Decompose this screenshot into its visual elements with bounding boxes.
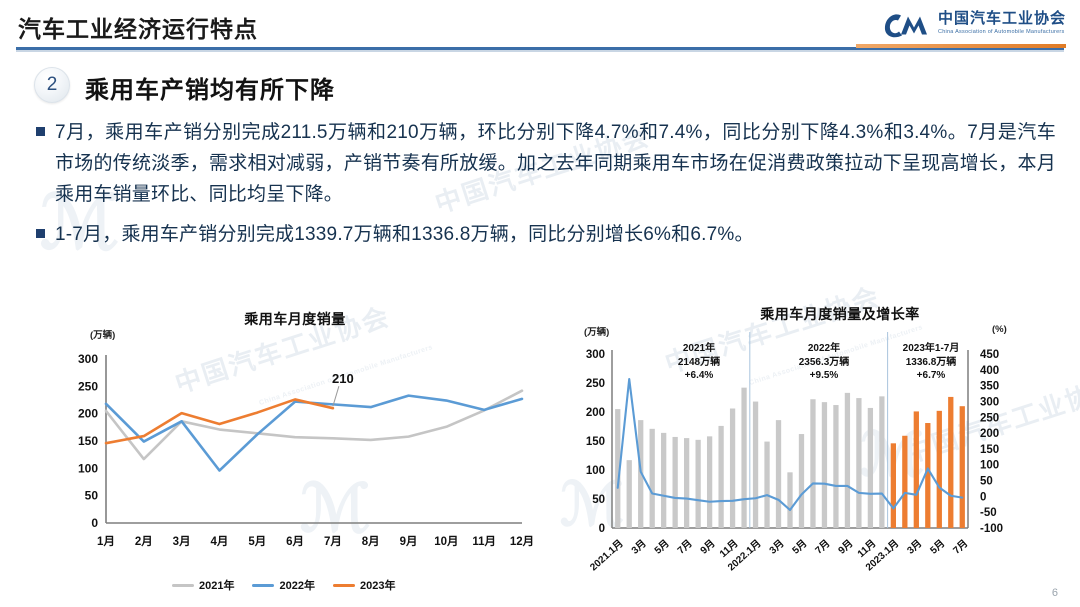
left-y-tick-label: 100 [586, 465, 605, 477]
x-tick-label: 6月 [286, 535, 304, 548]
x-tick-label: 3月 [173, 535, 191, 548]
section-title: 乘用车产销均有所下降 [85, 70, 335, 105]
left-y-tick-label: 50 [592, 494, 605, 506]
annotation-2022-growth: +9.5% [760, 369, 888, 383]
x-tick-label: 5月 [248, 535, 266, 548]
annotation-2023-growth: +6.7% [870, 369, 992, 383]
right-y-tick-label: 0 [980, 491, 986, 503]
bar [925, 423, 930, 528]
slide: 中国汽车工业协会 China Association of Automobile… [0, 0, 1080, 607]
annotation-2021-total: 2148万辆 [640, 356, 758, 370]
x-tick-label: 11月 [472, 535, 496, 548]
legend-item-2021: 2021年 [172, 577, 234, 593]
x-tick-label: 5月 [790, 537, 810, 556]
bullet-square-icon [36, 229, 45, 238]
x-tick-label: 4月 [211, 535, 229, 548]
x-tick-label: 3月 [767, 537, 787, 556]
bar [673, 437, 678, 528]
header-divider-secondary [16, 50, 1064, 52]
right-y-tick-label: 150 [980, 444, 999, 456]
bar [707, 436, 712, 528]
right-y-tick-label: 300 [980, 396, 999, 408]
left-y-tick-label: 200 [586, 407, 605, 419]
bullet-square-icon [36, 127, 45, 136]
annotation-2022: 2022年 2356.3万辆 +9.5% [760, 342, 888, 383]
x-tick-label: 10月 [434, 535, 458, 548]
y-tick-label: 50 [85, 489, 99, 503]
logo-name-cn: 中国汽车工业协会 [938, 11, 1066, 28]
x-tick-label: 8月 [362, 535, 380, 548]
list-item: 7月，乘用车产销分别完成211.5万辆和210万辆，环比分别下降4.7%和7.4… [36, 118, 1056, 210]
y-tick-label: 300 [78, 352, 98, 366]
left-y-tick-label: 0 [599, 523, 605, 535]
annotation-2023: 2023年1-7月 1336.8万辆 +6.7% [870, 342, 992, 383]
x-tick-label: 7月 [324, 535, 342, 548]
bar [845, 393, 850, 528]
logo-name-en: China Association of Automobile Manufact… [938, 29, 1066, 35]
bar [764, 442, 769, 528]
annotation-2022-total: 2356.3万辆 [760, 356, 888, 370]
bullet-text: 7月，乘用车产销分别完成211.5万辆和210万辆，环比分别下降4.7%和7.4… [55, 118, 1056, 210]
right-y-tick-label: 50 [980, 476, 993, 488]
right-y-tick-label: -50 [980, 507, 997, 519]
annotation-2023-year: 2023年1-7月 [870, 342, 992, 356]
x-tick-label: 9月 [836, 537, 856, 556]
y-tick-label: 200 [78, 407, 98, 421]
legend-label-2022: 2022年 [279, 577, 314, 593]
bar [787, 472, 792, 528]
chart1-canvas: 0501001502002503001月2月3月4月5月6月7月8月9月10月1… [60, 345, 530, 595]
x-tick-label: 7月 [951, 537, 971, 556]
x-tick-label: 3月 [629, 537, 649, 556]
bar [856, 398, 861, 528]
left-y-tick-label: 250 [586, 378, 605, 390]
x-tick-label: 5月 [652, 537, 672, 556]
bar [914, 411, 919, 528]
y-tick-label: 150 [78, 434, 98, 448]
y-tick-label: 250 [78, 379, 98, 393]
x-tick-label: 3月 [905, 537, 925, 556]
logo-accent-bar [856, 44, 1066, 48]
page-number: 6 [1052, 587, 1058, 599]
right-y-tick-label: -100 [980, 523, 1003, 535]
y-tick-label: 0 [91, 516, 98, 530]
annotation-2021: 2021年 2148万辆 +6.4% [640, 342, 758, 383]
bar [833, 405, 838, 528]
bar [730, 409, 735, 528]
bar [822, 402, 827, 528]
bar [879, 396, 884, 528]
legend-label-2023: 2023年 [360, 577, 395, 593]
legend-swatch-2022 [252, 584, 274, 587]
bullet-list: 7月，乘用车产销分别完成211.5万辆和210万辆，环比分别下降4.7%和7.4… [36, 118, 1056, 261]
y-axis-unit-label: (万辆) [90, 327, 115, 341]
section-number-badge: 2 [34, 67, 70, 103]
x-tick-label: 12月 [510, 535, 534, 548]
page-title: 汽车工业经济运行特点 [18, 10, 258, 44]
x-tick-label: 7月 [675, 537, 695, 556]
x-tick-label: 2月 [135, 535, 153, 548]
x-tick-label: 9月 [400, 535, 418, 548]
bar [810, 399, 815, 528]
chart-title: 乘用车月度销量 [60, 309, 530, 329]
right-y-tick-label: 200 [980, 428, 999, 440]
bar [799, 434, 804, 528]
bullet-text: 1-7月，乘用车产销分别完成1339.7万辆和1336.8万辆，同比分别增长6%… [55, 220, 754, 251]
x-tick-label: 1月 [97, 535, 115, 548]
right-y-tick-label: 100 [980, 460, 999, 472]
bar [718, 426, 723, 528]
right-y-tick-label: 250 [980, 412, 999, 424]
list-item: 1-7月，乘用车产销分别完成1339.7万辆和1336.8万辆，同比分别增长6%… [36, 220, 1056, 251]
annotation-2021-growth: +6.4% [640, 369, 758, 383]
chart1-legend: 2021年 2022年 2023年 [172, 577, 395, 593]
chart-title: 乘用车月度销量及增长率 [610, 304, 1070, 324]
x-tick-label: 7月 [813, 537, 833, 556]
right-axis-unit-label: (%) [992, 324, 1007, 335]
bar [960, 406, 965, 528]
left-y-tick-label: 300 [586, 349, 605, 361]
bar [741, 388, 746, 528]
bar [868, 408, 873, 528]
legend-swatch-2023 [333, 584, 355, 587]
left-y-tick-label: 150 [586, 436, 605, 448]
annotation-leader-line [333, 386, 339, 406]
x-tick-label: 2021.1月 [588, 537, 626, 573]
annotation-2022-year: 2022年 [760, 342, 888, 356]
chart-monthly-sales-and-growth: 乘用车月度销量及增长率 (万辆) (%) 2021年 2148万辆 +6.4% … [570, 300, 1070, 600]
legend-item-2023: 2023年 [333, 577, 395, 593]
bar [627, 460, 632, 528]
bar [684, 438, 689, 528]
x-tick-label: 9月 [698, 537, 718, 556]
line-series-2021年 [106, 391, 522, 459]
bar [776, 420, 781, 528]
legend-swatch-2021 [172, 584, 194, 587]
bar [902, 436, 907, 528]
bar [937, 411, 942, 528]
left-axis-unit-label: (万辆) [584, 324, 609, 338]
bar [661, 433, 666, 528]
legend-label-2021: 2021年 [199, 577, 234, 593]
annotation-2023-total: 1336.8万辆 [870, 356, 992, 370]
bar [948, 397, 953, 528]
bar [650, 429, 655, 528]
annotation-2021-year: 2021年 [640, 342, 758, 356]
bar [753, 402, 758, 528]
bar [695, 440, 700, 528]
caam-logo-icon [883, 8, 931, 38]
bar [891, 443, 896, 528]
caam-logo: 中国汽车工业协会 China Association of Automobile… [883, 8, 1066, 38]
data-label-210: 210 [332, 371, 354, 386]
chart-monthly-sales-by-year: 乘用车月度销量 (万辆) 0501001502002503001月2月3月4月5… [60, 305, 530, 605]
legend-item-2022: 2022年 [252, 577, 314, 593]
x-tick-label: 5月 [928, 537, 948, 556]
y-tick-label: 100 [78, 461, 98, 475]
